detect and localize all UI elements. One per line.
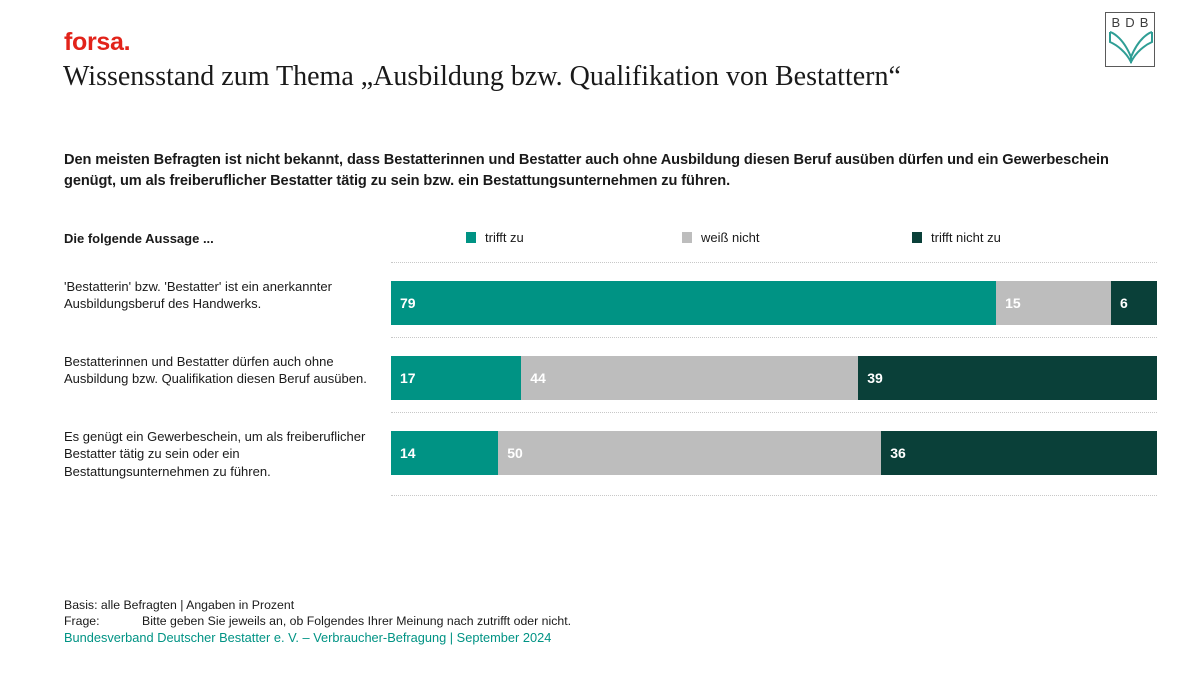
gridline	[391, 337, 1157, 338]
bar-value-label: 50	[507, 446, 523, 460]
footer-frage: Frage:Bitte geben Sie jeweils an, ob Fol…	[64, 613, 571, 629]
bar-segment-weiss-nicht[interactable]: 15	[996, 281, 1111, 325]
page-title: Wissensstand zum Thema „Ausbildung bzw. …	[63, 62, 901, 93]
footer-source: Bundesverband Deutscher Bestatter e. V. …	[64, 630, 571, 647]
chart-legend: trifft zu weiß nicht trifft nicht zu	[466, 230, 1166, 248]
stacked-bar-chart: 'Bestatterin' bzw. 'Bestatter' ist ein a…	[64, 262, 1157, 502]
bar-segment-trifft-nicht-zu[interactable]: 36	[881, 431, 1157, 475]
bar-value-label: 6	[1120, 296, 1128, 310]
bar-segment-weiss-nicht[interactable]: 50	[498, 431, 881, 475]
legend-label: trifft zu	[485, 230, 524, 245]
bar-segment-trifft-zu[interactable]: 14	[391, 431, 498, 475]
chart-row-label: Bestatterinnen und Bestatter dürfen auch…	[64, 353, 374, 388]
bar-segment-trifft-nicht-zu[interactable]: 39	[858, 356, 1157, 400]
key-message: Den meisten Befragten ist nicht bekannt,…	[64, 150, 1154, 192]
bar-value-label: 44	[530, 371, 546, 385]
statement-column-header: Die folgende Aussage ...	[64, 231, 214, 246]
bar-value-label: 79	[400, 296, 416, 310]
legend-swatch-icon	[466, 232, 476, 243]
bar-value-label: 39	[867, 371, 883, 385]
footer-frage-text: Bitte geben Sie jeweils an, ob Folgendes…	[142, 614, 571, 628]
bar-segment-trifft-zu[interactable]: 17	[391, 356, 521, 400]
gridline	[391, 262, 1157, 263]
bdb-logo: B D B	[1105, 12, 1155, 67]
legend-swatch-icon	[682, 232, 692, 243]
chart-row: 'Bestatterin' bzw. 'Bestatter' ist ein a…	[64, 262, 1157, 337]
chart-row: Es genügt ein Gewerbeschein, um als frei…	[64, 412, 1157, 487]
legend-item-trifft-zu[interactable]: trifft zu	[466, 230, 524, 245]
chart-row: Bestatterinnen und Bestatter dürfen auch…	[64, 337, 1157, 412]
chart-row-label: 'Bestatterin' bzw. 'Bestatter' ist ein a…	[64, 278, 374, 313]
bdb-logo-letter-1: B	[1112, 16, 1121, 29]
forsa-logo: forsa.	[64, 30, 130, 55]
footer: Basis: alle Befragten | Angaben in Proze…	[64, 597, 571, 647]
legend-item-weiss-nicht[interactable]: weiß nicht	[682, 230, 760, 245]
bdb-open-book-icon	[1109, 30, 1153, 64]
stacked-bar: 14 50 36	[391, 431, 1157, 475]
gridline	[391, 412, 1157, 413]
bar-value-label: 36	[890, 446, 906, 460]
legend-label: trifft nicht zu	[931, 230, 1001, 245]
bar-segment-trifft-nicht-zu[interactable]: 6	[1111, 281, 1157, 325]
bar-value-label: 15	[1005, 296, 1021, 310]
bar-segment-trifft-zu[interactable]: 79	[391, 281, 996, 325]
legend-label: weiß nicht	[701, 230, 760, 245]
legend-swatch-icon	[912, 232, 922, 243]
bdb-logo-letters: B D B	[1106, 16, 1154, 29]
footer-basis: Basis: alle Befragten | Angaben in Proze…	[64, 597, 571, 613]
bar-value-label: 17	[400, 371, 416, 385]
bar-segment-weiss-nicht[interactable]: 44	[521, 356, 858, 400]
bdb-logo-letter-2: D	[1125, 16, 1134, 29]
chart-row-label: Es genügt ein Gewerbeschein, um als frei…	[64, 428, 374, 480]
legend-item-trifft-nicht-zu[interactable]: trifft nicht zu	[912, 230, 1001, 245]
footer-frage-label: Frage:	[64, 613, 142, 629]
bar-value-label: 14	[400, 446, 416, 460]
gridline	[391, 495, 1157, 496]
stacked-bar: 79 15 6	[391, 281, 1157, 325]
bdb-logo-letter-3: B	[1140, 16, 1149, 29]
stacked-bar: 17 44 39	[391, 356, 1157, 400]
